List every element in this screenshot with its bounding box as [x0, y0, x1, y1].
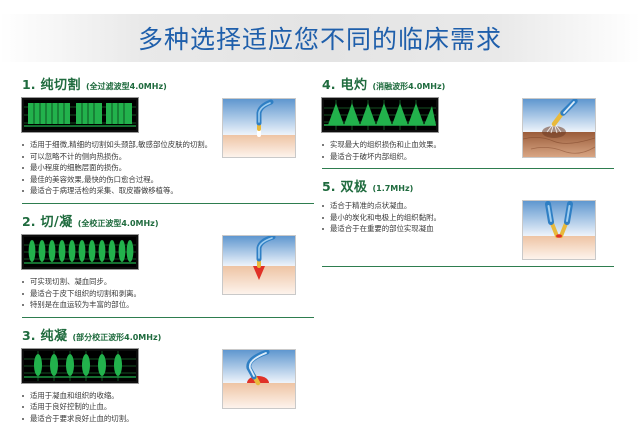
list-item: 适用于良好控制的止血。	[22, 401, 218, 413]
section-heading: 2. 切/凝 (全校正波型4.0MHz)	[22, 211, 322, 230]
electrode-fulguration-skin-illustration	[522, 98, 596, 158]
section-heading: 3. 纯凝 (部分校正波形4.0MHz)	[22, 325, 322, 344]
section-title: 切/凝	[40, 211, 72, 230]
fulguration-waveform-icon	[322, 98, 438, 132]
section-divider	[22, 317, 314, 318]
list-item: 适用于细微,精细的切割如头颈部,敏感部位皮肤的切割。	[22, 139, 218, 151]
section-divider	[322, 168, 614, 169]
section-number: 2.	[22, 214, 35, 229]
section-subtitle: (部分校正波形4.0MHz)	[72, 332, 161, 343]
page-title: 多种选择适应您不同的临床需求	[138, 20, 502, 56]
list-item: 适合于精准的点状凝血。	[322, 200, 518, 212]
electrode-cutting-skin-illustration	[222, 98, 296, 158]
list-item: 最小的炭化和电极上的组织黏附。	[322, 212, 518, 224]
section-fulguration: 4. 电灼 (消融波形4.0MHz)	[322, 74, 622, 169]
title-banner: 多种选择适应您不同的临床需求	[0, 14, 640, 62]
section-number: 1.	[22, 77, 35, 92]
section-body: 适用于凝血和组织的收缩。 适用于良好控制的止血。 最适合于要求良好止血的切割。	[22, 349, 322, 425]
section-pure-coag: 3. 纯凝 (部分校正波形4.0MHz)	[22, 325, 322, 425]
list-item: 最适合于破坏内部组织。	[322, 151, 518, 163]
section-pure-cut: 1. 纯切割 (全过滤波型4.0MHz)	[22, 74, 322, 204]
fully-filtered-waveform-icon	[22, 98, 138, 132]
section-text-block: 适合于精准的点状凝血。 最小的炭化和电极上的组织黏附。 最适合于在重要的部位实现…	[322, 200, 518, 235]
list-item: 最适合于皮下组织的切割和剥离。	[22, 288, 218, 300]
section-body: 可实现切割、凝血同步。 最适合于皮下组织的切割和剥离。 特别是在血运较为丰富的部…	[22, 235, 322, 311]
section-subtitle: (消融波形4.0MHz)	[372, 81, 445, 92]
section-heading: 5. 双极 (1.7MHz)	[322, 176, 622, 195]
section-number: 4.	[322, 77, 335, 92]
list-item: 实现最大的组织损伤和止血效果。	[322, 139, 518, 151]
section-text-block: 适用于细微,精细的切割如头颈部,敏感部位皮肤的切割。 可以忽略不计的侧向热损伤。…	[22, 98, 218, 197]
list-item: 可以忽略不计的侧向热损伤。	[22, 151, 218, 163]
list-item: 最适合于要求良好止血的切割。	[22, 413, 218, 425]
partially-rectified-waveform-icon	[22, 349, 138, 383]
section-text-block: 实现最大的组织损伤和止血效果。 最适合于破坏内部组织。	[322, 98, 518, 162]
section-subtitle: (全校正波型4.0MHz)	[78, 218, 159, 229]
left-column: 1. 纯切割 (全过滤波型4.0MHz)	[22, 74, 322, 425]
section-heading: 4. 电灼 (消融波形4.0MHz)	[322, 74, 622, 93]
section-title: 电灼	[340, 74, 367, 93]
section-title: 纯切割	[40, 74, 81, 93]
list-item: 适用于凝血和组织的收缩。	[22, 390, 218, 402]
electrode-incision-skin-illustration	[222, 235, 296, 295]
section-body: 适用于细微,精细的切割如头颈部,敏感部位皮肤的切割。 可以忽略不计的侧向热损伤。…	[22, 98, 322, 197]
bipolar-forceps-skin-illustration	[522, 200, 596, 260]
section-number: 5.	[322, 179, 335, 194]
section-bipolar: 5. 双极 (1.7MHz) 适合于精准的点状凝血。 最小的炭化和电极上的组织黏…	[322, 176, 622, 267]
section-title: 纯凝	[40, 325, 67, 344]
bullet-list: 适用于细微,精细的切割如头颈部,敏感部位皮肤的切割。 可以忽略不计的侧向热损伤。…	[22, 139, 218, 197]
section-divider	[22, 203, 314, 204]
bullet-list: 适用于凝血和组织的收缩。 适用于良好控制的止血。 最适合于要求良好止血的切割。	[22, 390, 218, 425]
list-item: 最小程度的细胞层面的损伤。	[22, 162, 218, 174]
list-item: 可实现切割、凝血同步。	[22, 276, 218, 288]
right-column: 4. 电灼 (消融波形4.0MHz)	[322, 74, 622, 274]
section-text-block: 适用于凝血和组织的收缩。 适用于良好控制的止血。 最适合于要求良好止血的切割。	[22, 349, 218, 425]
section-number: 3.	[22, 328, 35, 343]
list-item: 特别是在血运较为丰富的部位。	[22, 299, 218, 311]
section-subtitle: (全过滤波型4.0MHz)	[86, 81, 167, 92]
section-text-block: 可实现切割、凝血同步。 最适合于皮下组织的切割和剥离。 特别是在血运较为丰富的部…	[22, 235, 218, 311]
section-body: 实现最大的组织损伤和止血效果。 最适合于破坏内部组织。	[322, 98, 622, 162]
bullet-list: 实现最大的组织损伤和止血效果。 最适合于破坏内部组织。	[322, 139, 518, 162]
list-item: 最适合于在重要的部位实现凝血	[322, 223, 518, 235]
section-cut-coag: 2. 切/凝 (全校正波型4.0MHz)	[22, 211, 322, 318]
list-item: 最适合于病理活检的采集、取皮瓣做移植等。	[22, 185, 218, 197]
section-divider	[322, 266, 614, 267]
section-body: 适合于精准的点状凝血。 最小的炭化和电极上的组织黏附。 最适合于在重要的部位实现…	[322, 200, 622, 260]
fully-rectified-waveform-icon	[22, 235, 138, 269]
section-subtitle: (1.7MHz)	[372, 184, 413, 193]
list-item: 最佳的美容效果,最快的伤口愈合过程。	[22, 174, 218, 186]
electrode-coagulation-skin-illustration	[222, 349, 296, 409]
bullet-list: 可实现切割、凝血同步。 最适合于皮下组织的切割和剥离。 特别是在血运较为丰富的部…	[22, 276, 218, 311]
section-heading: 1. 纯切割 (全过滤波型4.0MHz)	[22, 74, 322, 93]
section-title: 双极	[340, 176, 367, 195]
bullet-list: 适合于精准的点状凝血。 最小的炭化和电极上的组织黏附。 最适合于在重要的部位实现…	[322, 200, 518, 235]
